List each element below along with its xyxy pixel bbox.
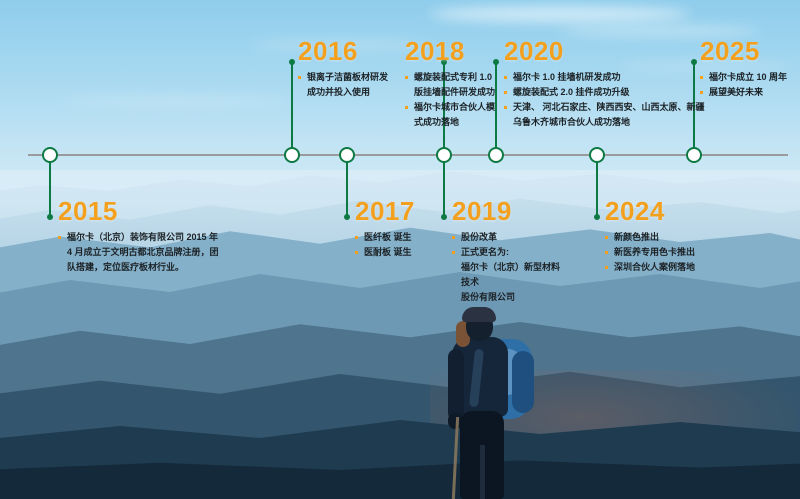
bullet-marker-icon: [700, 91, 703, 94]
bullet-marker-icon: [605, 266, 608, 269]
bullet-item-continuation: 4 月成立于文明古都北京品牌注册，团: [58, 245, 233, 260]
bullet-marker-icon: [605, 236, 608, 239]
bullet-item-continuation: 福尔卡（北京）新型材料技术: [452, 260, 562, 290]
bullet-marker-icon: [504, 91, 507, 94]
timeline-axis: [28, 154, 788, 156]
entry-bullets-2016: 银离子洁菌板材研发 成功并投入使用: [298, 70, 388, 100]
year-label-2016: 2016: [298, 38, 388, 64]
entry-bullets-2017: 医纤板 诞生 医耐板 诞生: [355, 230, 415, 260]
entry-bullets-2024: 新颜色推出 新医养专用色卡推出 深圳合伙人案例落地: [605, 230, 695, 275]
year-label-2019: 2019: [452, 198, 562, 224]
cloud: [430, 6, 690, 22]
bullet-marker-icon: [355, 251, 358, 254]
bullet-marker-icon: [504, 76, 507, 79]
timeline-node-2017[interactable]: [339, 147, 355, 163]
hiker-leg-separation: [480, 445, 485, 499]
bullet-item: 深圳合伙人案例落地: [605, 260, 695, 275]
stem-2020: [495, 62, 497, 148]
bullet-marker-icon: [355, 236, 358, 239]
timeline-infographic: 2016 银离子洁菌板材研发 成功并投入使用 2018 螺旋装配式专利 1.0 …: [0, 0, 800, 499]
timeline-node-2015[interactable]: [42, 147, 58, 163]
bullet-marker-icon: [504, 106, 507, 109]
bullet-marker-icon: [700, 76, 703, 79]
bullet-item: 福尔卡成立 10 周年: [700, 70, 787, 85]
stem-2017: [346, 162, 348, 217]
bullet-marker-icon: [405, 76, 408, 79]
bullet-marker-icon: [405, 106, 408, 109]
bullet-item: 股份改革: [452, 230, 562, 245]
hiker-arm: [448, 349, 464, 421]
year-label-2020: 2020: [504, 38, 705, 64]
cloud: [60, 96, 290, 106]
timeline-entry-2016[interactable]: 2016 银离子洁菌板材研发 成功并投入使用: [298, 38, 388, 100]
bullet-marker-icon: [605, 251, 608, 254]
bullet-item: 螺旋装配式专利 1.0: [405, 70, 495, 85]
bullet-item: 新颜色推出: [605, 230, 695, 245]
stem-2024: [596, 162, 598, 217]
bullet-item-continuation: 成功并投入使用: [298, 85, 388, 100]
stem-2015: [49, 162, 51, 217]
trekking-pole: [452, 417, 459, 499]
entry-bullets-2019: 股份改革 正式更名为: 福尔卡（北京）新型材料技术 股份有限公司: [452, 230, 562, 305]
stem-2016: [291, 62, 293, 148]
timeline-entry-2019[interactable]: 2019 股份改革 正式更名为: 福尔卡（北京）新型材料技术 股份有限公司: [452, 198, 562, 305]
timeline-entry-2020[interactable]: 2020 福尔卡 1.0 挂墙机研发成功 螺旋装配式 2.0 挂件成功升级 天津…: [504, 38, 705, 130]
bullet-item-continuation: 乌鲁木齐城市合伙人成功落地: [504, 115, 705, 130]
year-label-2025: 2025: [700, 38, 787, 64]
timeline-entry-2025[interactable]: 2025 福尔卡成立 10 周年 展望美好未来: [700, 38, 787, 100]
entry-bullets-2018: 螺旋装配式专利 1.0 版挂墙配件研发成功 福尔卡城市合伙人模 式成功落地: [405, 70, 495, 130]
timeline-node-2024[interactable]: [686, 147, 702, 163]
bullet-item: 正式更名为:: [452, 245, 562, 260]
year-label-2024: 2024: [605, 198, 695, 224]
backpack-shadow: [512, 351, 534, 413]
entry-bullets-2015: 福尔卡（北京）装饰有限公司 2015 年 4 月成立于文明古都北京品牌注册，团 …: [58, 230, 233, 275]
timeline-entry-2024[interactable]: 2024 新颜色推出 新医养专用色卡推出 深圳合伙人案例落地: [605, 198, 695, 275]
bullet-marker-icon: [452, 251, 455, 254]
bullet-item: 螺旋装配式 2.0 挂件成功升级: [504, 85, 705, 100]
bullet-marker-icon: [298, 76, 301, 79]
bullet-item: 展望美好未来: [700, 85, 787, 100]
timeline-entry-2018[interactable]: 2018 螺旋装配式专利 1.0 版挂墙配件研发成功 福尔卡城市合伙人模 式成功…: [405, 38, 495, 130]
bullet-item: 新医养专用色卡推出: [605, 245, 695, 260]
stem-2019: [443, 162, 445, 217]
bullet-marker-icon: [58, 236, 61, 239]
bullet-item: 天津、 河北石家庄、陕西西安、山西太原、新疆: [504, 100, 705, 115]
bullet-item-continuation: 式成功落地: [405, 115, 495, 130]
bullet-item: 福尔卡 1.0 挂墙机研发成功: [504, 70, 705, 85]
bullet-item-continuation: 股份有限公司: [452, 290, 562, 305]
timeline-entry-2015[interactable]: 2015 福尔卡（北京）装饰有限公司 2015 年 4 月成立于文明古都北京品牌…: [58, 198, 233, 275]
bullet-item: 福尔卡城市合伙人模: [405, 100, 495, 115]
bullet-item-continuation: 版挂墙配件研发成功: [405, 85, 495, 100]
bullet-item: 医纤板 诞生: [355, 230, 415, 245]
year-label-2018: 2018: [405, 38, 495, 64]
timeline-node-2019[interactable]: [488, 147, 504, 163]
entry-bullets-2025: 福尔卡成立 10 周年 展望美好未来: [700, 70, 787, 100]
entry-bullets-2020: 福尔卡 1.0 挂墙机研发成功 螺旋装配式 2.0 挂件成功升级 天津、 河北石…: [504, 70, 705, 130]
timeline-node-2020[interactable]: [589, 147, 605, 163]
hiker-figure: [432, 305, 562, 499]
bullet-item-continuation: 队搭建，定位医疗板材行业。: [58, 260, 233, 275]
bullet-item: 医耐板 诞生: [355, 245, 415, 260]
year-label-2015: 2015: [58, 198, 233, 224]
cloud: [560, 26, 760, 36]
bullet-marker-icon: [452, 236, 455, 239]
timeline-node-2016[interactable]: [284, 147, 300, 163]
hiker-cap: [462, 307, 496, 322]
bullet-item: 福尔卡（北京）装饰有限公司 2015 年: [58, 230, 233, 245]
timeline-entry-2017[interactable]: 2017 医纤板 诞生 医耐板 诞生: [355, 198, 415, 260]
bullet-item: 银离子洁菌板材研发: [298, 70, 388, 85]
year-label-2017: 2017: [355, 198, 415, 224]
timeline-node-2018[interactable]: [436, 147, 452, 163]
